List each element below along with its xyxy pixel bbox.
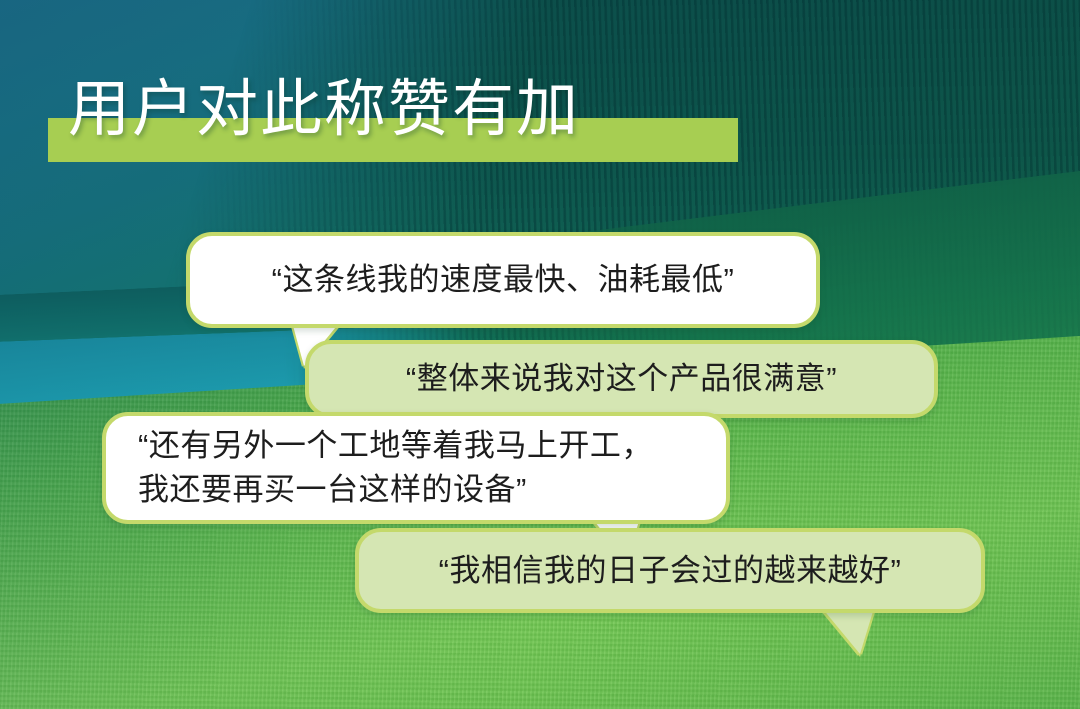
speech-bubble-tail-4 bbox=[822, 608, 874, 654]
testimonial-text-2: “整体来说我对这个产品很满意” bbox=[309, 357, 934, 401]
testimonial-bubble-2: “整体来说我对这个产品很满意” bbox=[305, 340, 938, 418]
title-text: 用户对此称赞有加 bbox=[68, 62, 580, 158]
testimonial-poster: 用户对此称赞有加 “这条线我的速度最快、油耗最低” “整体来说我对这个产品很满意… bbox=[0, 0, 1080, 709]
testimonial-text-4: “我相信我的日子会过的越来越好” bbox=[359, 549, 981, 593]
page-title: 用户对此称赞有加 bbox=[48, 62, 808, 172]
testimonial-bubble-4: “我相信我的日子会过的越来越好” bbox=[355, 528, 985, 613]
testimonial-bubble-3: “还有另外一个工地等着我马上开工， 我还要再买一台这样的设备” bbox=[102, 412, 730, 524]
testimonial-text-3: “还有另外一个工地等着我马上开工， 我还要再买一台这样的设备” bbox=[106, 424, 726, 512]
testimonial-text-1: “这条线我的速度最快、油耗最低” bbox=[190, 258, 816, 302]
testimonial-bubble-1: “这条线我的速度最快、油耗最低” bbox=[186, 232, 820, 328]
